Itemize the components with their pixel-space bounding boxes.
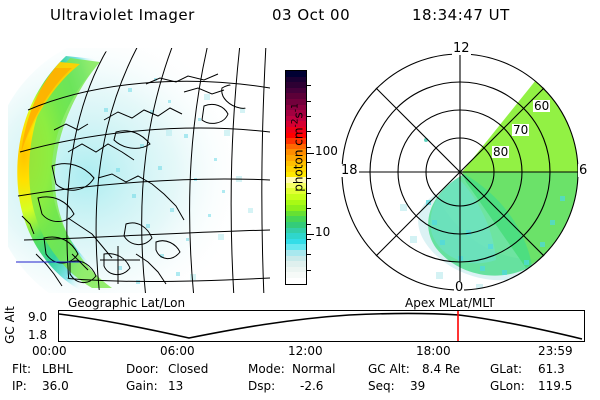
status-seq-key: Seq:: [368, 379, 395, 393]
status-gcalt-value: 8.4 Re: [422, 362, 460, 376]
orbit-xtick-0: 00:00: [32, 344, 67, 358]
colorbar-label-100: 100: [315, 144, 338, 158]
status-row-2: IP: 36.0 Gain: 13 Dsp: -2.6 Seq: 39 GLon…: [0, 379, 600, 396]
status-glat-key: GLat:: [490, 362, 522, 376]
colorbar-minor-tick-10: [307, 224, 311, 225]
orbit-xtick-1: 06:00: [160, 344, 195, 358]
colorbar: 10010 photon cm-2s-1: [283, 68, 345, 288]
status-mode-key: Mode:: [248, 362, 285, 376]
geographic-panel-title: Geographic Lat/Lon: [68, 296, 185, 310]
colorbar-ticks: [307, 70, 314, 285]
colorbar-label-10: 10: [315, 225, 330, 239]
orbit-xtick-2: 12:00: [288, 344, 323, 358]
colorbar-band-37: [286, 278, 306, 284]
status-glon-value: 119.5: [538, 379, 572, 393]
colorbar-axis-label: photon cm-2s-1: [291, 73, 306, 223]
colorbar-minor-tick-4: [307, 131, 311, 132]
status-ip-key: IP:: [12, 379, 27, 393]
status-flt-key: Flt:: [12, 362, 31, 376]
status-gain-value: 13: [168, 379, 183, 393]
mlt-label-6: 6: [578, 164, 588, 177]
status-dsp-key: Dsp:: [248, 379, 275, 393]
colorbar-minor-tick-7: [307, 178, 311, 179]
colorbar-minor-tick-6: [307, 162, 311, 163]
orbit-ytick-high: 9.0: [28, 310, 47, 324]
status-mode-value: Normal: [292, 362, 335, 376]
colorbar-minor-tick-9: [307, 208, 311, 209]
colorbar-minor-tick-1: [307, 85, 311, 86]
geographic-image-panel[interactable]: [8, 48, 270, 293]
polar-panel-title: Apex MLat/MLT: [405, 296, 495, 310]
status-gcalt-key: GC Alt:: [368, 362, 410, 376]
status-gain-key: Gain:: [126, 379, 158, 393]
orbit-xtick-3: 18:00: [416, 344, 451, 358]
status-door-value: Closed: [168, 362, 208, 376]
observation-time: 18:34:47 UT: [412, 6, 510, 24]
mlt-label-18: 18: [340, 164, 359, 177]
status-door-key: Door:: [126, 362, 159, 376]
colorbar-unit-exp2: -1: [291, 103, 301, 112]
colorbar-minor-tick-13: [307, 270, 311, 271]
orbit-y-axis-label: GC Alt: [3, 299, 17, 351]
orbit-track-curve: [59, 311, 584, 341]
mlt-label-12: 12: [452, 42, 471, 55]
colorbar-unit-mid: s: [292, 112, 306, 118]
geographic-aurora-image: [8, 48, 270, 293]
colorbar-minor-tick-12: [307, 254, 311, 255]
apex-polar-panel[interactable]: 12 18 6 0 60 70 80: [340, 44, 590, 294]
status-glat-value: 61.3: [538, 362, 565, 376]
colorbar-minor-tick-5: [307, 147, 311, 148]
mlat-ring-label-70: 70: [512, 124, 529, 136]
status-seq-value: 39: [410, 379, 425, 393]
status-flt-value: LBHL: [42, 362, 73, 376]
mlt-label-0: 0: [454, 281, 464, 294]
orbit-xtick-4: 23:59: [538, 344, 573, 358]
colorbar-unit-exp1: -2: [291, 118, 301, 127]
colorbar-minor-tick-2: [307, 101, 311, 102]
orbit-ytick-low: 1.8: [28, 328, 47, 342]
orbit-plot-frame: [58, 310, 585, 342]
status-dsp-value: -2.6: [300, 379, 323, 393]
mlat-ring-label-60: 60: [533, 100, 550, 112]
colorbar-major-tick-1: [307, 234, 314, 235]
status-row-1: Flt: LBHL Door: Closed Mode: Normal GC A…: [0, 362, 600, 379]
page-title: Ultraviolet Imager: [50, 6, 195, 24]
orbit-altitude-plot[interactable]: Geographic Lat/Lon Apex MLat/MLT GC Alt …: [0, 296, 600, 358]
status-glon-key: GLon:: [490, 379, 525, 393]
colorbar-major-tick-0: [307, 153, 314, 154]
colorbar-minor-tick-8: [307, 193, 311, 194]
colorbar-unit-main: photon cm: [292, 127, 306, 191]
polar-aurora-dial: [340, 44, 590, 294]
mlat-ring-label-80: 80: [492, 146, 509, 158]
status-ip-value: 36.0: [42, 379, 69, 393]
status-block: Flt: LBHL Door: Closed Mode: Normal GC A…: [0, 362, 600, 400]
uvi-screenshot: Ultraviolet Imager 03 Oct 00 18:34:47 UT: [0, 0, 600, 400]
colorbar-minor-tick-3: [307, 116, 311, 117]
colorbar-minor-tick-11: [307, 239, 311, 240]
observation-date: 03 Oct 00: [272, 6, 350, 24]
